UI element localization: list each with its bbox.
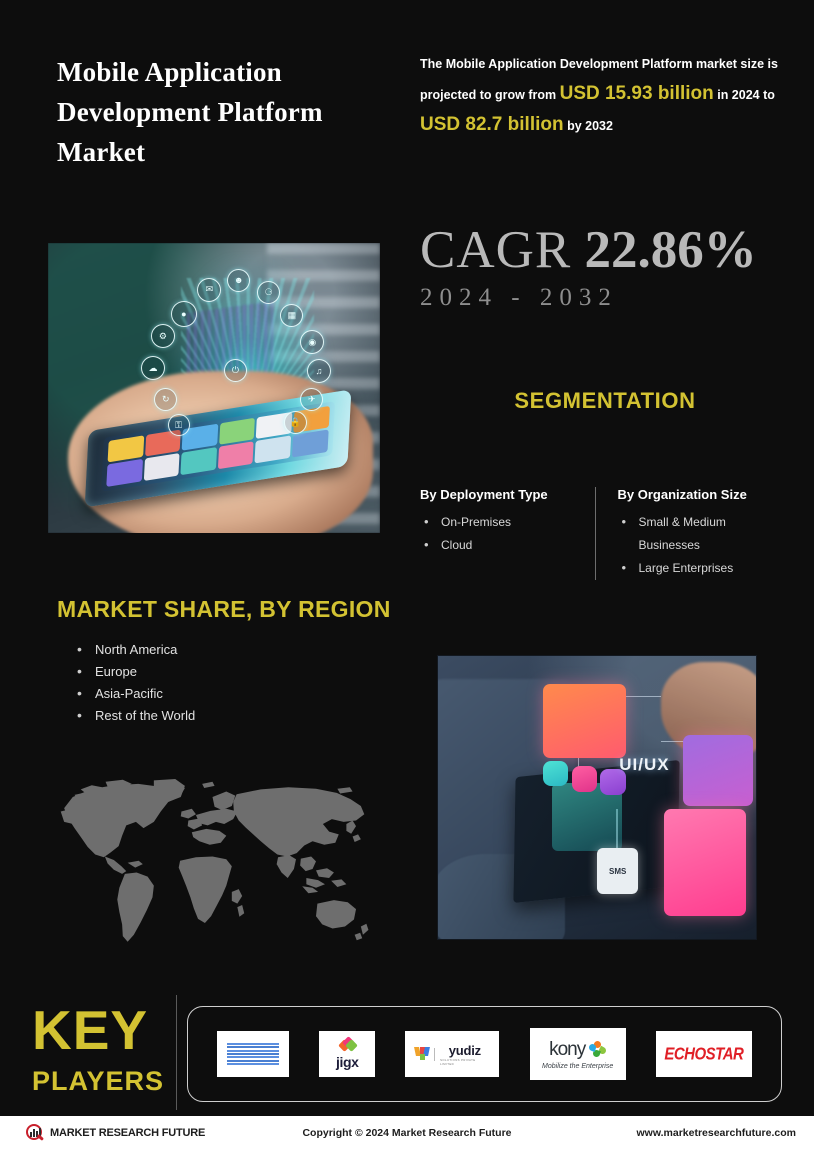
car-icon: ⚿ <box>168 414 190 436</box>
list-item: North America <box>74 639 195 661</box>
yudiz-wordmark: yudiz <box>449 1043 481 1058</box>
segment-heading: By Deployment Type <box>420 487 585 502</box>
cagr-value: 22.86% <box>585 221 757 279</box>
list-item: Cloud <box>420 534 585 557</box>
kony-wordmark: kony <box>549 1039 585 1061</box>
jigx-logo-icon: jigx <box>336 1038 359 1070</box>
power-icon: ⏻ <box>224 359 247 382</box>
market-value-2032: USD 82.7 billion <box>420 114 564 135</box>
intro-text-part4: by 2032 <box>564 119 613 133</box>
list-item: Asia-Pacific <box>74 683 195 705</box>
intro-text-part2: in 2024 <box>714 88 760 102</box>
world-map-svg <box>40 770 385 950</box>
kony-tagline: Mobilize the Enterprise <box>542 1063 613 1070</box>
uiux-photo: SMS UI/UX <box>437 655 757 940</box>
infographic-page: Mobile Application Development Platform … <box>0 0 814 1150</box>
jigx-wordmark: jigx <box>336 1054 359 1070</box>
yudiz-logo-icon: yudiz SOLUTIONS PRIVATE LIMITED <box>415 1043 489 1066</box>
cagr-line: CAGR 22.86% <box>420 222 757 278</box>
smartphone-photo: ● ✉ ☻ ⚆ ▦ ⚙ ◉ ☁ ♫ ⏻ ↻ ✈ ⚿ 🔒 <box>48 243 380 533</box>
intro-text-part3: to <box>763 88 775 102</box>
list-card <box>664 809 747 917</box>
settings-icon: ⚙ <box>151 324 175 348</box>
cloud-icon: ☁ <box>141 356 165 380</box>
location-pin-icon: ● <box>171 301 197 327</box>
logo-kony: kony Mobilize the Enterprise <box>530 1028 626 1080</box>
market-share-heading: MARKET SHARE, BY REGION <box>57 596 391 623</box>
list-item: Europe <box>74 661 195 683</box>
chat-icon: ⚆ <box>257 281 280 304</box>
region-list: North America Europe Asia-Pacific Rest o… <box>74 639 195 727</box>
yudiz-v-icon <box>415 1047 429 1061</box>
list-item: Large Enterprises <box>618 557 783 580</box>
list-item: On-Premises <box>420 511 585 534</box>
footer-copyright: Copyright © 2024 Market Research Future <box>0 1127 814 1139</box>
world-map <box>40 770 385 950</box>
segment-group-organization-size: By Organization Size Small & Medium Busi… <box>595 487 793 580</box>
echostar-wordmark: ECHOSTAR <box>664 1044 743 1064</box>
music-icon: ♫ <box>307 359 331 383</box>
cagr-block: CAGR 22.86% 2024 - 2032 <box>420 222 757 312</box>
logo-yudiz: yudiz SOLUTIONS PRIVATE LIMITED <box>405 1031 499 1077</box>
footer: MARKET RESEARCH FUTURE Copyright © 2024 … <box>0 1116 814 1150</box>
key-players-line2: PLAYERS <box>32 1068 164 1095</box>
vertical-divider <box>176 995 177 1110</box>
logo-ibm <box>217 1031 289 1077</box>
key-players-logo-box: jigx yudiz SOLUTIONS PRIVATE LIMITED kon… <box>187 1006 782 1102</box>
segment-heading: By Organization Size <box>618 487 783 502</box>
jigx-diamond-icon <box>340 1038 355 1053</box>
list-item: Rest of the World <box>74 705 195 727</box>
kony-logo-row: kony <box>549 1039 606 1061</box>
ibm-logo-icon <box>227 1043 279 1065</box>
profile-card <box>683 735 753 806</box>
lock-icon: 🔒 <box>284 411 307 434</box>
segment-list: On-Premises Cloud <box>420 511 585 557</box>
segmentation-heading: SEGMENTATION <box>420 388 790 414</box>
divider <box>434 1048 435 1061</box>
cagr-period: 2024 - 2032 <box>420 284 757 312</box>
key-players-label: KEY PLAYERS <box>32 1003 164 1095</box>
sms-chip: SMS <box>597 848 638 893</box>
cyan-icon-chip <box>543 761 568 786</box>
segmentation-columns: By Deployment Type On-Premises Cloud By … <box>420 487 792 580</box>
key-players-line1: KEY <box>32 1003 164 1058</box>
kony-pinwheel-icon <box>589 1041 606 1058</box>
cagr-label: CAGR <box>420 221 571 279</box>
logo-jigx: jigx <box>319 1031 375 1077</box>
yudiz-tagline: SOLUTIONS PRIVATE LIMITED <box>440 1058 489 1066</box>
music-player-card <box>543 684 626 758</box>
logo-echostar: ECHOSTAR <box>656 1031 752 1077</box>
uiux-label: UI/UX <box>619 755 669 775</box>
market-size-summary: The Mobile Application Development Platf… <box>420 50 790 141</box>
market-value-2024: USD 15.93 billion <box>560 83 714 104</box>
list-item: Small & Medium Businesses <box>618 511 783 557</box>
segment-group-deployment-type: By Deployment Type On-Premises Cloud <box>420 487 595 580</box>
page-title: Mobile Application Development Platform … <box>57 52 387 172</box>
segment-list: Small & Medium Businesses Large Enterpri… <box>618 511 783 580</box>
pink-icon-chip <box>572 766 597 791</box>
